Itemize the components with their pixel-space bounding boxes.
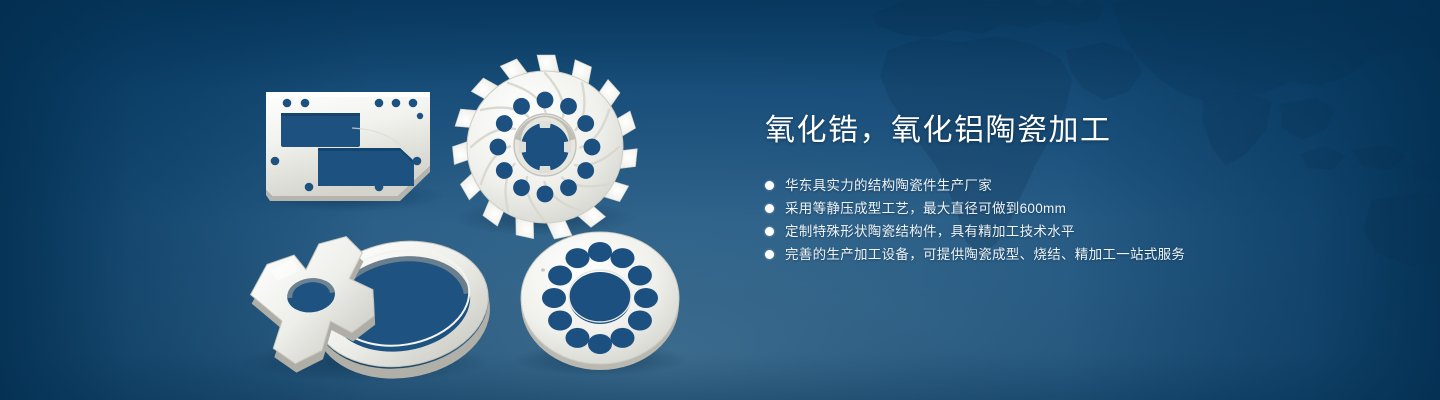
list-item: 完善的生产加工设备，可提供陶瓷成型、烧结、精加工一站式服务 [765, 243, 1385, 266]
banner-copy: 氧化锆，氧化铝陶瓷加工 华东具实力的结构陶瓷件生产厂家 采用等静压成型工艺，最大… [765, 112, 1385, 266]
bullet-dot-icon [765, 204, 774, 213]
promo-banner: 氧化锆，氧化铝陶瓷加工 华东具实力的结构陶瓷件生产厂家 采用等静压成型工艺，最大… [0, 0, 1440, 400]
list-item-label: 完善的生产加工设备，可提供陶瓷成型、烧结、精加工一站式服务 [785, 243, 1185, 266]
list-item-label: 华东具实力的结构陶瓷件生产厂家 [785, 174, 992, 197]
ceramic-machined-plate [266, 92, 430, 201]
bullet-dot-icon [765, 181, 774, 190]
page-title: 氧化锆，氧化铝陶瓷加工 [765, 112, 1385, 150]
feature-list: 华东具实力的结构陶瓷件生产厂家 采用等静压成型工艺，最大直径可做到600mm 定… [765, 174, 1385, 266]
bullet-dot-icon [765, 227, 774, 236]
list-item: 华东具实力的结构陶瓷件生产厂家 [765, 174, 1385, 197]
ceramic-products-group [0, 0, 720, 400]
ceramic-perforated-flange-ring [521, 232, 679, 370]
list-item: 定制特殊形状陶瓷结构件，具有精加工技术水平 [765, 220, 1385, 243]
bullet-dot-icon [765, 250, 774, 259]
list-item: 采用等静压成型工艺，最大直径可做到600mm [765, 197, 1385, 220]
list-item-label: 采用等静压成型工艺，最大直径可做到600mm [785, 197, 1066, 220]
list-item-label: 定制特殊形状陶瓷结构件，具有精加工技术水平 [785, 220, 1075, 243]
